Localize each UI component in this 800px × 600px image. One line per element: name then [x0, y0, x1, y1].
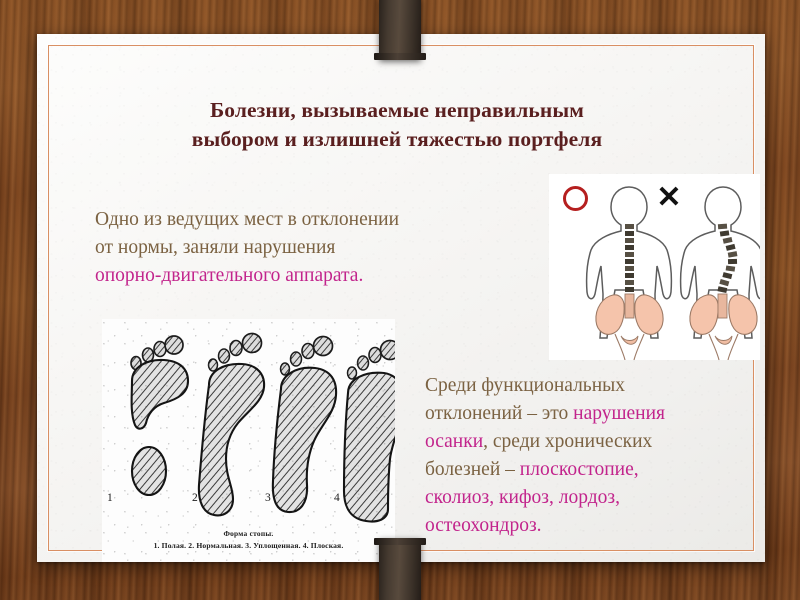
footprints-svg [102, 319, 395, 562]
footprint-1-high-arch [131, 336, 188, 495]
paragraph-right-line-6: остеохондроз. [425, 512, 770, 540]
title-line-1: Болезни, вызываемые неправильным [97, 96, 697, 125]
binder-clip-top-lip [374, 53, 426, 60]
pr-l4-plain: болезней – [425, 459, 520, 480]
pelvis-left [596, 294, 663, 360]
title-line-2: выбором и излишней тяжестью портфеля [97, 125, 697, 154]
footprint-number-1: 1 [107, 492, 113, 504]
footprint-3-flattened [273, 337, 336, 513]
incorrect-posture-cross-icon: ✕ [656, 185, 682, 211]
binder-clip-bottom [379, 538, 421, 600]
slide-paper-card: Болезни, вызываемые неправильным выбором… [37, 34, 765, 562]
paragraph-left-line-1: Одно из ведущих мест в отклонении [95, 206, 545, 234]
correct-posture-circle-icon [563, 186, 588, 211]
body-scoliosis [681, 187, 760, 360]
footprints-caption-title: Форма стопы. [102, 529, 395, 538]
binder-clip-top [379, 0, 421, 60]
footprint-number-3: 3 [265, 492, 271, 504]
footprint-2-normal [199, 334, 264, 516]
footprints-caption-list: 1. Полая. 2. Нормальная. 3. Уплощенная. … [102, 541, 395, 550]
paragraph-right: Среди функциональных отклонений – это на… [425, 372, 770, 540]
paragraph-left-line-3-highlight: опорно-двигательного аппарата. [95, 262, 545, 290]
paragraph-left: Одно из ведущих мест в отклонении от нор… [95, 206, 545, 290]
footprint-4-flat [344, 341, 395, 522]
page-title: Болезни, вызываемые неправильным выбором… [97, 96, 697, 154]
pr-l4-highlight: плоскостопие, [520, 459, 639, 480]
pr-l2-plain: отклонений – это [425, 403, 573, 424]
footprint-number-2: 2 [192, 492, 198, 504]
footprint-number-4: 4 [334, 492, 340, 504]
paragraph-right-line-3: осанки, среди хронических [425, 428, 770, 456]
paragraph-left-line-2: от нормы, заняли нарушения [95, 234, 545, 262]
binder-clip-bottom-lip [374, 538, 426, 545]
paragraph-right-line-5: сколиоз, кифоз, лордоз, [425, 484, 770, 512]
posture-comparison-image: ✕ [549, 174, 760, 360]
paragraph-right-line-1: Среди функциональных [425, 372, 770, 400]
footprints-figure-image: 1 2 3 4 Форма стопы. 1. Полая. 2. Нормал… [102, 319, 395, 562]
pr-l2-highlight: нарушения [573, 403, 665, 424]
pr-l3-highlight: осанки [425, 431, 483, 452]
pr-l3-plain: , среди хронических [483, 431, 652, 452]
paragraph-right-line-4: болезней – плоскостопие, [425, 456, 770, 484]
paragraph-right-line-2: отклонений – это нарушения [425, 400, 770, 428]
pelvis-right [690, 294, 757, 360]
